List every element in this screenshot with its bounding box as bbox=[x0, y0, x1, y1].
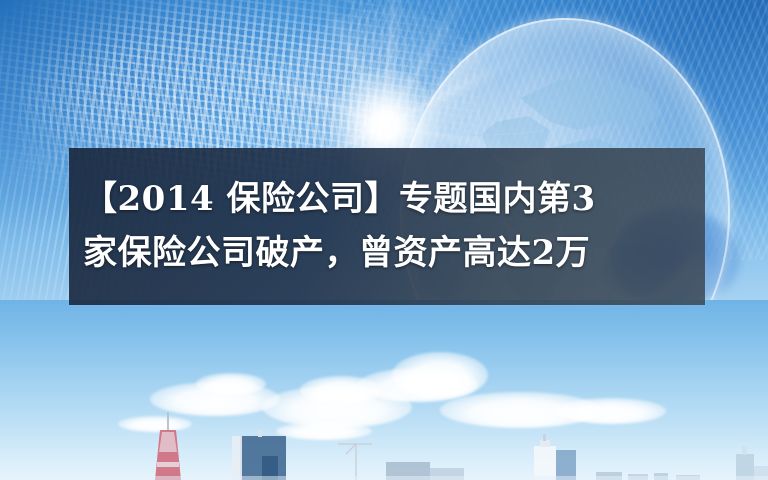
white-tower bbox=[534, 434, 576, 480]
caption-banner: 【2014 保险公司】专题国内第3 家保险公司破产，曾资产高达2万 bbox=[69, 148, 705, 305]
lattice-tower bbox=[155, 412, 181, 480]
caption-text-block: 【2014 保险公司】专题国内第3 家保险公司破产，曾资产高达2万 bbox=[69, 148, 705, 305]
cumulus-left-small bbox=[196, 373, 266, 395]
ground-haze bbox=[0, 476, 768, 480]
caption-line-1: 【2014 保险公司】专题国内第3 bbox=[83, 173, 596, 227]
city-skyline bbox=[0, 410, 768, 480]
far-right-tower bbox=[736, 446, 768, 480]
crane bbox=[338, 444, 372, 480]
caption-line-2: 家保险公司破产，曾资产高达2万 bbox=[83, 227, 590, 281]
cumulus-tall bbox=[392, 352, 488, 398]
glass-tower bbox=[232, 430, 286, 480]
image-canvas: 【2014 保险公司】专题国内第3 家保险公司破产，曾资产高达2万 bbox=[0, 0, 768, 480]
